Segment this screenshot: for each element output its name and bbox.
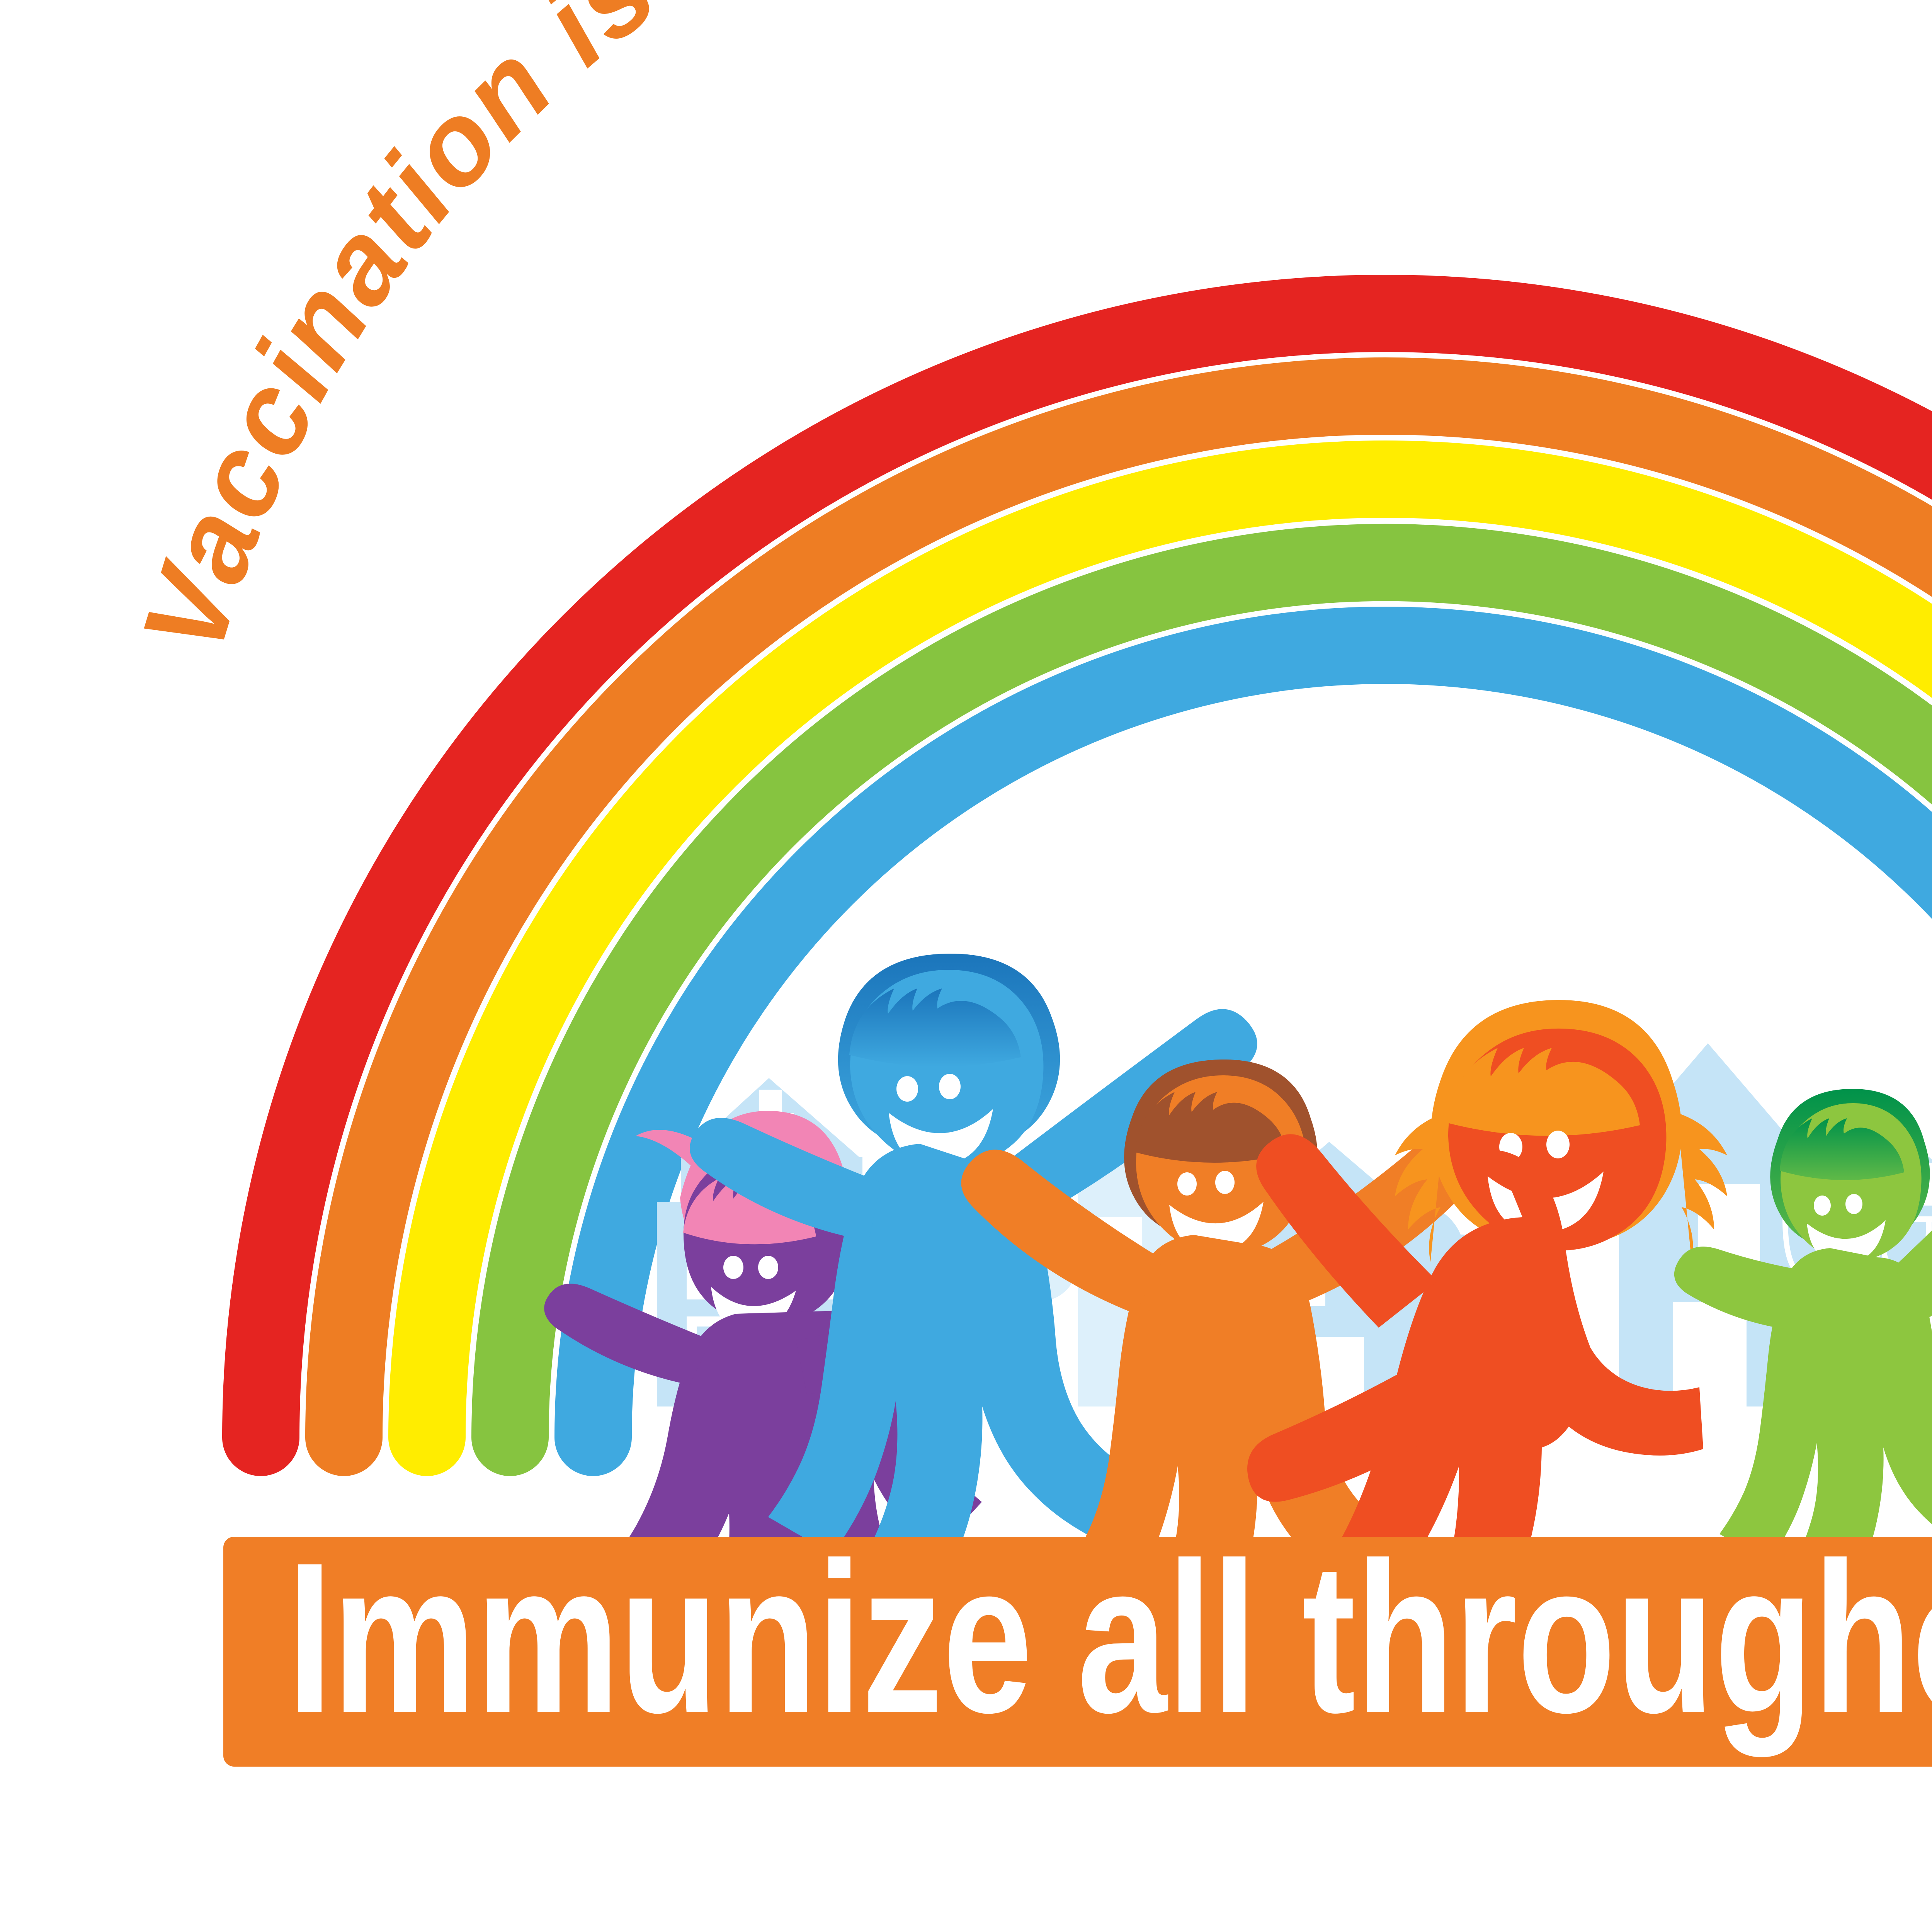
- blue-boy-eye-right: [939, 1074, 961, 1099]
- orange-boy-eye-left: [1177, 1172, 1197, 1196]
- purple-girl-eye-left: [723, 1256, 743, 1279]
- banner-headline: Immunize all throughout life.: [287, 1518, 1932, 1759]
- orange-boy-eye-right: [1215, 1171, 1235, 1194]
- red-woman-eye-right: [1546, 1131, 1570, 1158]
- banner: Immunize all throughout life.: [223, 1518, 1932, 1767]
- poster-canvas: Vaccination is everyone's job, protect y…: [0, 0, 1932, 1932]
- purple-girl-eye-right: [758, 1256, 778, 1279]
- poster-artwork: Vaccination is everyone's job, protect y…: [0, 0, 1932, 1932]
- green-child-eye-left: [1814, 1196, 1831, 1216]
- blue-boy-eye-left: [896, 1076, 918, 1102]
- green-child-eye-right: [1845, 1194, 1862, 1214]
